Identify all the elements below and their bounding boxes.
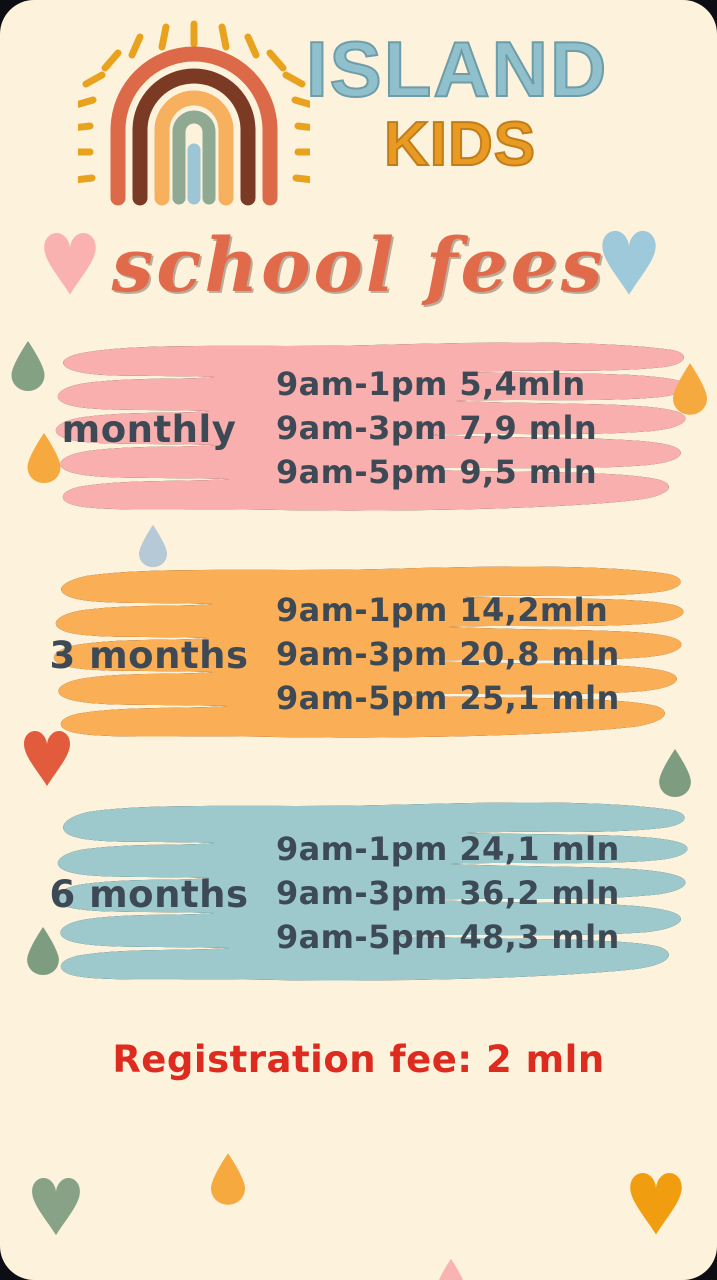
heart-green-bottom-icon [30, 1172, 82, 1238]
pricing-period-label: 3 months [0, 634, 270, 677]
poster-header: ISLAND KIDS [0, 14, 717, 214]
brand-line-island: ISLAND [306, 30, 608, 108]
rate-line: 9am-5pm 48,3 mln [276, 916, 717, 960]
pricing-period-label: 6 months [0, 873, 270, 916]
drop-green-left-bottom-icon [26, 926, 60, 976]
pricing-rate-list: 9am-1pm 14,2mln 9am-3pm 20,8 mln 9am-5pm… [270, 589, 717, 720]
rate-line: 9am-3pm 36,2 mln [276, 872, 717, 916]
rate-line: 9am-5pm 9,5 mln [276, 451, 717, 495]
heart-pink-title-left-icon [42, 228, 98, 296]
rainbow-sun-icon [78, 20, 310, 206]
pricing-rate-list: 9am-1pm 24,1 mln 9am-3pm 36,2 mln 9am-5p… [270, 828, 717, 959]
heart-blue-title-right-icon [600, 226, 658, 296]
rate-line: 9am-1pm 24,1 mln [276, 828, 717, 872]
pricing-block-3-months: 3 months 9am-1pm 14,2mln 9am-3pm 20,8 ml… [0, 562, 717, 748]
rate-line: 9am-5pm 25,1 mln [276, 677, 717, 721]
rate-line: 9am-3pm 20,8 mln [276, 633, 717, 677]
drop-green-right-lower-icon [658, 748, 692, 798]
drop-orange-left-mid-icon [26, 432, 62, 484]
registration-fee-text: Registration fee: 2 mln [0, 1038, 717, 1081]
pricing-block-6-months: 6 months 9am-1pm 24,1 mln 9am-3pm 36,2 m… [0, 796, 717, 992]
poster-canvas: ISLAND KIDS school fees monthly 9am-1pm … [0, 0, 717, 1280]
rate-line: 9am-3pm 7,9 mln [276, 407, 717, 451]
brand-line-kids: KIDS [384, 114, 536, 176]
pricing-block-monthly: monthly 9am-1pm 5,4mln 9am-3pm 7,9 mln 9… [0, 336, 717, 522]
drop-orange-bottom-icon [210, 1152, 246, 1206]
pricing-rate-list: 9am-1pm 5,4mln 9am-3pm 7,9 mln 9am-5pm 9… [270, 363, 717, 494]
drop-pink-bottom-icon [436, 1258, 466, 1280]
heart-orange-bottom-icon [628, 1168, 684, 1236]
brand-wordmark: ISLAND KIDS [300, 30, 700, 210]
rate-line: 9am-1pm 14,2mln [276, 589, 717, 633]
drop-orange-right-upper-icon [672, 362, 708, 416]
heart-red-left-lower-icon [22, 726, 72, 788]
rate-line: 9am-1pm 5,4mln [276, 363, 717, 407]
drop-blue-center-icon [138, 524, 168, 568]
drop-green-left-upper-icon [10, 340, 46, 392]
